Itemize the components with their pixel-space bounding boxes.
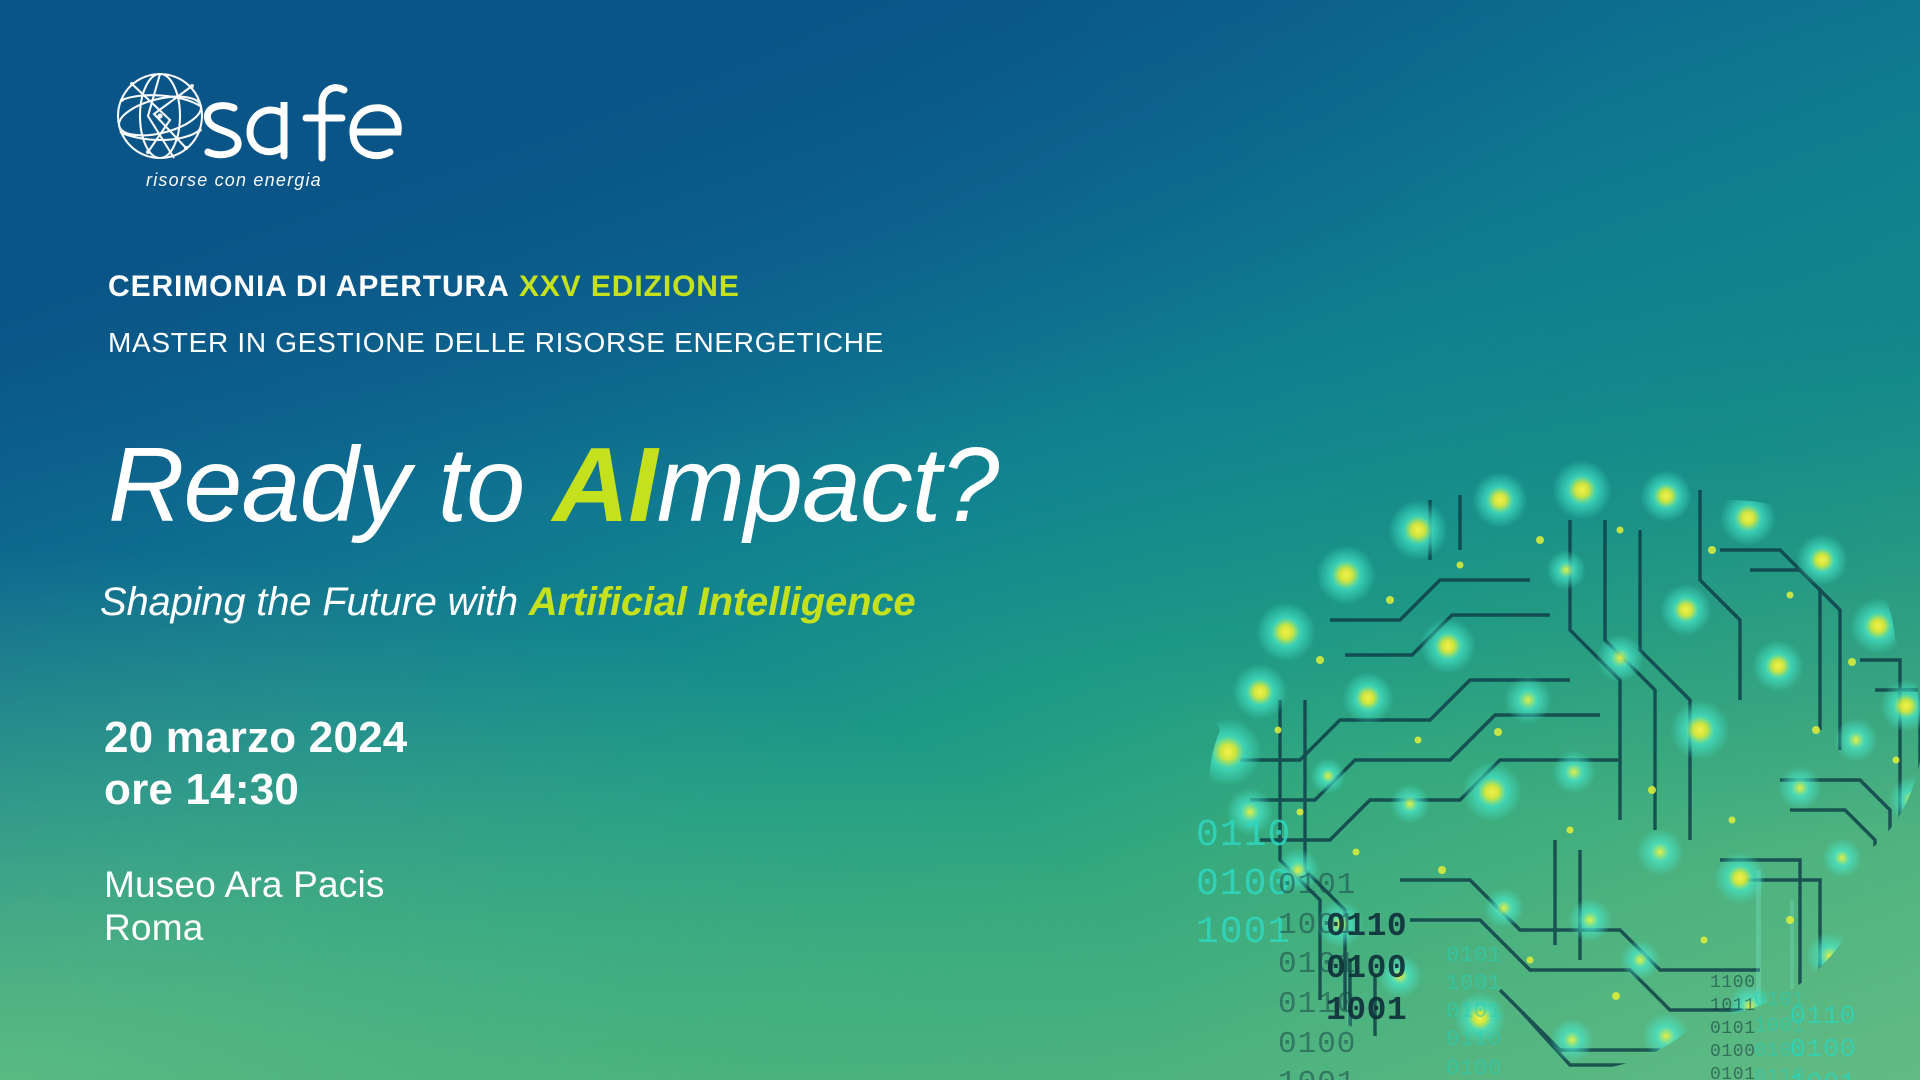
binary-code-cyan-right: 0110 0100 1001 [1790, 1000, 1856, 1080]
subtitle-part-1: Shaping the Future with [100, 580, 529, 624]
binary-code-cyan-large: 0110 0100 1001 [1196, 812, 1291, 958]
brain-circuit-svg [1100, 400, 1920, 1080]
event-city: Roma [104, 907, 385, 950]
network-globe-icon [108, 62, 408, 182]
kicker-accent-text: XXV EDIZIONE [519, 270, 740, 303]
title-part-2: mpact? [657, 426, 999, 544]
event-venue: Museo Ara Pacis [104, 864, 385, 907]
binary-code-gray-column: 0101 1001 0101 0110 0100 1001 [1278, 866, 1356, 1080]
kicker-main-text: CERIMONIA DI APERTURA [108, 270, 510, 303]
title-part-1: Ready to [108, 426, 553, 544]
binary-code-cyan-small: 0101 1001 0101 0110 0100 [1754, 988, 1805, 1080]
title-accent-ai: AI [553, 426, 657, 544]
event-poster: risorse con energia CERIMONIA DI APERTUR… [0, 0, 1920, 1080]
event-datetime: 20 marzo 2024 ore 14:30 [104, 712, 407, 816]
logo-tagline: risorse con energia [146, 170, 322, 191]
binary-code-cyan-column: 0101 1001 0101 0110 0100 1001 0101 0110 [1446, 942, 1502, 1080]
master-subtitle: MASTER IN GESTIONE DELLE RISORSE ENERGET… [108, 327, 884, 359]
binary-code-dark-small: 1100 1011 0101 0100 0101 1011 0100 0010 … [1710, 972, 1756, 1080]
event-date: 20 marzo 2024 [104, 712, 407, 764]
page-title: Ready to AImpact? [108, 432, 998, 538]
ceremony-kicker: CERIMONIA DI APERTURA XXV EDIZIONE [108, 270, 740, 304]
subtitle-accent-ai: Artificial Intelligence [529, 580, 916, 624]
event-time: ore 14:30 [104, 764, 407, 816]
safe-logo: risorse con energia [108, 62, 408, 202]
page-subtitle: Shaping the Future with Artificial Intel… [100, 580, 915, 625]
event-location: Museo Ara Pacis Roma [104, 864, 385, 950]
binary-code-dark-bold: 0110 0100 1001 [1326, 906, 1407, 1033]
ai-circuit-brain-illustration [1100, 400, 1920, 1080]
